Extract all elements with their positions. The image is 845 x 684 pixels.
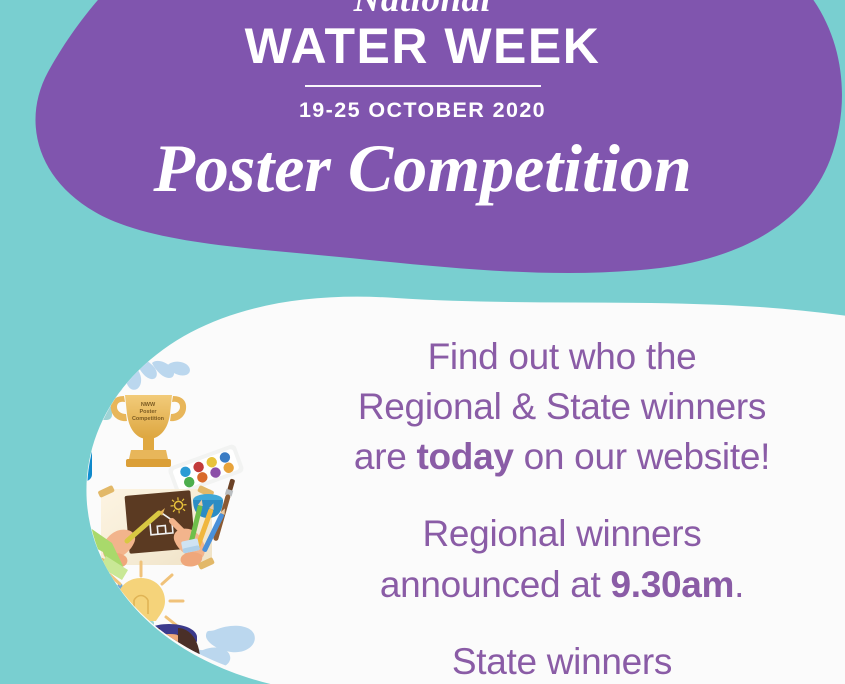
poster-canvas: 19 H₂O <box>0 0 845 684</box>
trophy-line-1: NWW <box>141 402 156 408</box>
trophy-line-3: Competition <box>132 416 165 422</box>
artwork-layer: 19 H₂O <box>0 0 845 684</box>
trophy-line-2: Poster <box>139 409 157 415</box>
purple-header-blob <box>35 0 841 273</box>
